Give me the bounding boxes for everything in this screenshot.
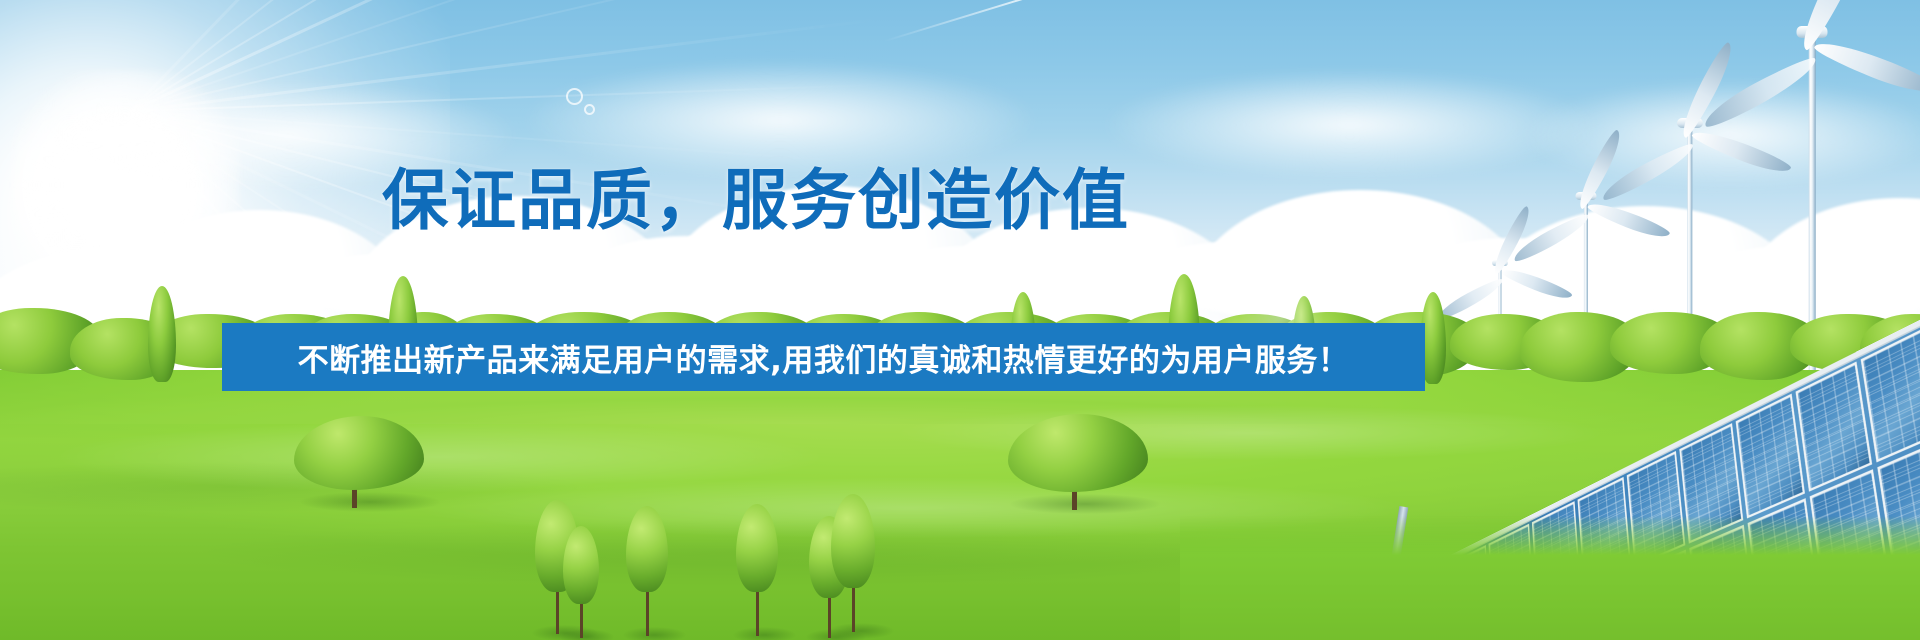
tree-crown-icon xyxy=(294,416,424,490)
solar-panel-group xyxy=(1180,246,1920,640)
tree-shadow xyxy=(828,623,894,639)
hero-banner: 保证品质，服务创造价值 不断推出新产品来满足用户的需求,用我们的真诚和热情更好的… xyxy=(0,0,1920,640)
subtitle-text: 不断推出新产品来满足用户的需求,用我们的真诚和热情更好的为用户服务！ xyxy=(298,335,1350,380)
tree-crown-icon xyxy=(626,506,668,592)
tree-crown-icon xyxy=(736,504,778,592)
turbine-blade xyxy=(1812,34,1920,101)
tree-crown-icon xyxy=(563,526,599,604)
solar-panel-cell xyxy=(1735,393,1805,518)
solar-base-grass xyxy=(1180,516,1920,640)
tree-shadow xyxy=(1010,494,1160,514)
subtitle-banner: 不断推出新产品来满足用户的需求,用我们的真诚和热情更好的为用户服务！ xyxy=(222,323,1425,391)
tree-crown-icon xyxy=(1008,414,1148,492)
tree-shadow xyxy=(560,629,614,640)
solar-panel-cell xyxy=(1861,327,1920,463)
solar-panel-cell xyxy=(1796,361,1873,491)
tree-shadow xyxy=(623,627,686,640)
tree-trunk xyxy=(580,598,583,638)
tree-trunk xyxy=(556,586,559,634)
tree-trunk xyxy=(756,586,759,636)
tree-shadow xyxy=(300,492,440,512)
page-title: 保证品质，服务创造价值 xyxy=(382,168,1130,234)
turbine-blade xyxy=(1690,124,1793,179)
tree-trunk xyxy=(852,582,855,632)
turbine-blade xyxy=(1573,128,1627,211)
tree-trunk xyxy=(646,586,649,636)
tree-crown-icon xyxy=(831,494,875,588)
tree-shadow xyxy=(733,627,796,640)
turbine-blade xyxy=(1586,197,1671,243)
